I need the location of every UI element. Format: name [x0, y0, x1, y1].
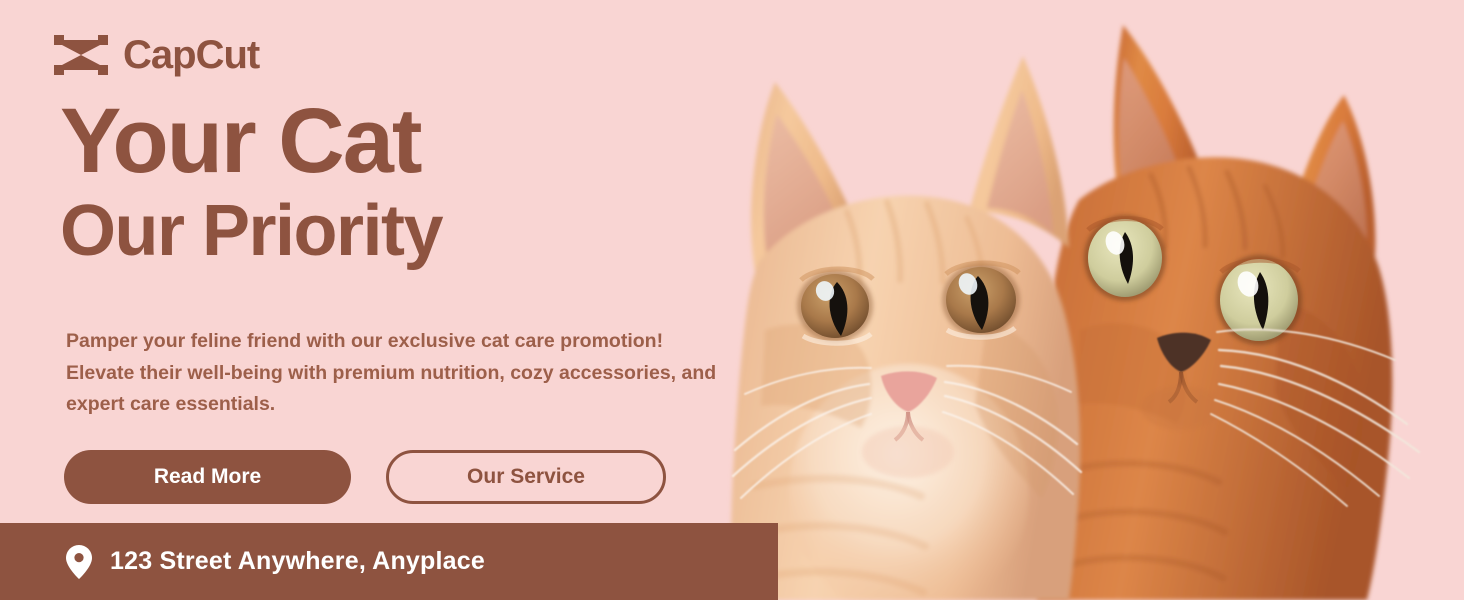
cta-button-group: Read More Our Service	[64, 450, 666, 504]
capcut-logo-icon	[52, 30, 110, 80]
cats-photo	[719, 0, 1464, 600]
page-title: Your Cat Our Priority	[60, 98, 740, 267]
headline-line-1: Your Cat	[60, 98, 740, 185]
capcut-logo-text: CapCut	[123, 35, 259, 75]
our-service-button[interactable]: Our Service	[386, 450, 666, 504]
headline-line-2: Our Priority	[60, 195, 740, 267]
location-pin-icon	[66, 545, 92, 579]
read-more-button[interactable]: Read More	[64, 450, 351, 504]
address-bar: 123 Street Anywhere, Anyplace	[0, 523, 778, 600]
promo-banner: CapCut Your Cat Our Priority Pamper your…	[0, 0, 1464, 600]
promo-description: Pamper your feline friend with our exclu…	[66, 326, 726, 421]
address-text: 123 Street Anywhere, Anyplace	[110, 547, 485, 576]
capcut-logo[interactable]: CapCut	[52, 30, 259, 80]
